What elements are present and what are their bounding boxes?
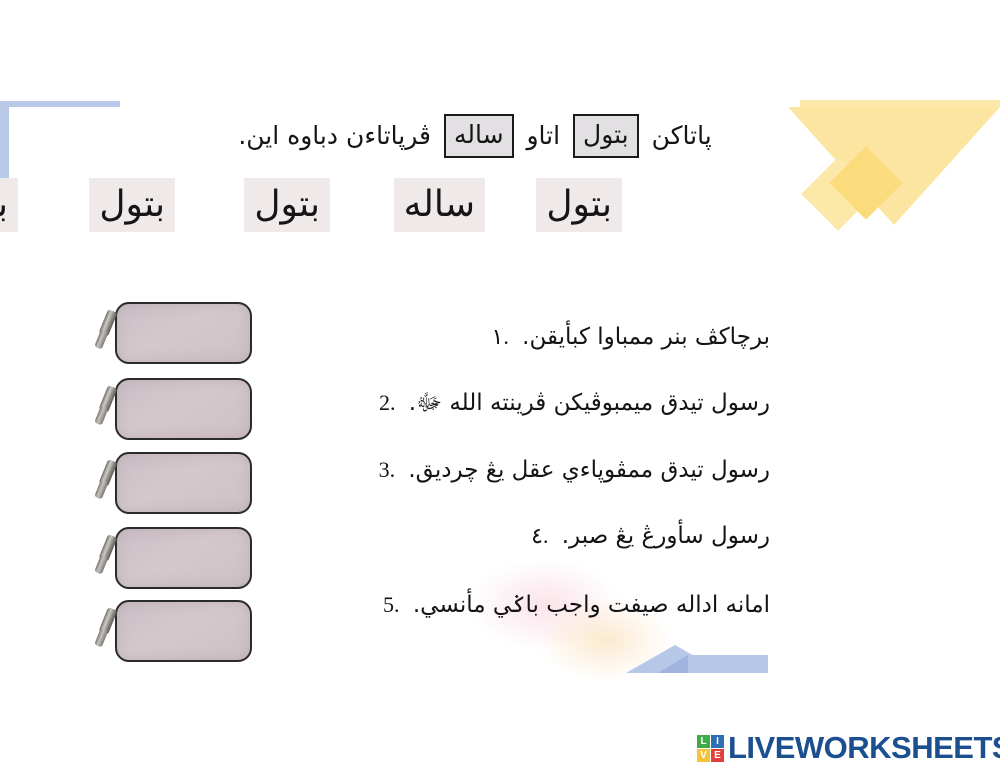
logo-block-v: V — [697, 749, 710, 762]
paperclip-icon — [98, 385, 117, 413]
decorative-blue-triangle-right — [658, 655, 688, 673]
paperclip-icon — [98, 459, 117, 487]
word-chip[interactable]: بتول — [0, 178, 18, 232]
statement-text: رسول تيدق ممڤوڽاءي عقل يڠ چرديق. — [408, 457, 770, 483]
answer-drop-box[interactable] — [115, 600, 252, 662]
statement-item: رسول سأورڠ يڠ صبر. ٤. — [531, 519, 770, 553]
paperclip-icon — [98, 309, 117, 337]
statement-item: برچاكڤ بنر ممباوا كبأيقن. ١. — [492, 320, 771, 354]
instruction-tail: ڤرڽاتاءن دباوه اين. — [238, 114, 431, 158]
decorative-blue-bar — [0, 101, 120, 107]
worksheet-page: پاتاكن بتول اتاو ساله ڤرڽاتاءن دباوه اين… — [0, 0, 1000, 772]
paperclip-icon — [98, 607, 117, 635]
instruction-line: پاتاكن بتول اتاو ساله ڤرڽاتاءن دباوه اين… — [150, 113, 800, 159]
instruction-boxed-word-betul: بتول — [573, 114, 639, 158]
liveworksheets-logo[interactable]: L I V E LIVEWORKSHEETS — [697, 731, 1000, 765]
statement-number: ١. — [492, 320, 509, 354]
instruction-lead: پاتاكن — [652, 114, 712, 158]
instruction-boxed-word-salah: ساله — [444, 114, 514, 158]
statement-number: 3. — [379, 453, 396, 487]
statement-item: رسول تيدق ميمبوڤيكن ڤرينته الله ﷻ. 2. — [379, 386, 770, 420]
word-chip[interactable]: بتول — [89, 178, 175, 232]
liveworksheets-wordmark: LIVEWORKSHEETS — [728, 731, 1000, 765]
instruction-middle: اتاو — [526, 114, 560, 158]
logo-block-i: I — [711, 735, 724, 748]
statement-number: 2. — [379, 386, 396, 420]
statement-text: رسول سأورڠ يڠ صبر. — [562, 523, 770, 549]
answer-drop-box[interactable] — [115, 527, 252, 589]
liveworksheets-logo-blocks: L I V E — [697, 735, 724, 762]
word-chip[interactable]: بتول — [536, 178, 622, 232]
answer-drop-box[interactable] — [115, 378, 252, 440]
paperclip-icon — [98, 534, 117, 562]
statement-text: امانه اداله صيفت واجب باݢي مأنسي. — [413, 592, 770, 618]
statement-number: 5. — [383, 588, 400, 622]
statement-item: رسول تيدق ممڤوڽاءي عقل يڠ چرديق. 3. — [379, 453, 770, 487]
word-chip[interactable]: بتول — [244, 178, 330, 232]
answer-drop-box[interactable] — [115, 302, 252, 364]
statement-text: برچاكڤ بنر ممباوا كبأيقن. — [522, 324, 770, 350]
logo-block-e: E — [711, 749, 724, 762]
answer-drop-box[interactable] — [115, 452, 252, 514]
decorative-yellow-bar — [800, 100, 1000, 107]
logo-block-l: L — [697, 735, 710, 748]
word-bank: بتول ساله بتول بتول بتول — [0, 178, 800, 240]
statement-number: ٤. — [531, 519, 548, 553]
statement-text: رسول تيدق ميمبوڤيكن ڤرينته الله ﷻ. — [409, 390, 770, 416]
word-chip[interactable]: ساله — [394, 178, 485, 232]
statement-item: امانه اداله صيفت واجب باݢي مأنسي. 5. — [383, 588, 770, 622]
